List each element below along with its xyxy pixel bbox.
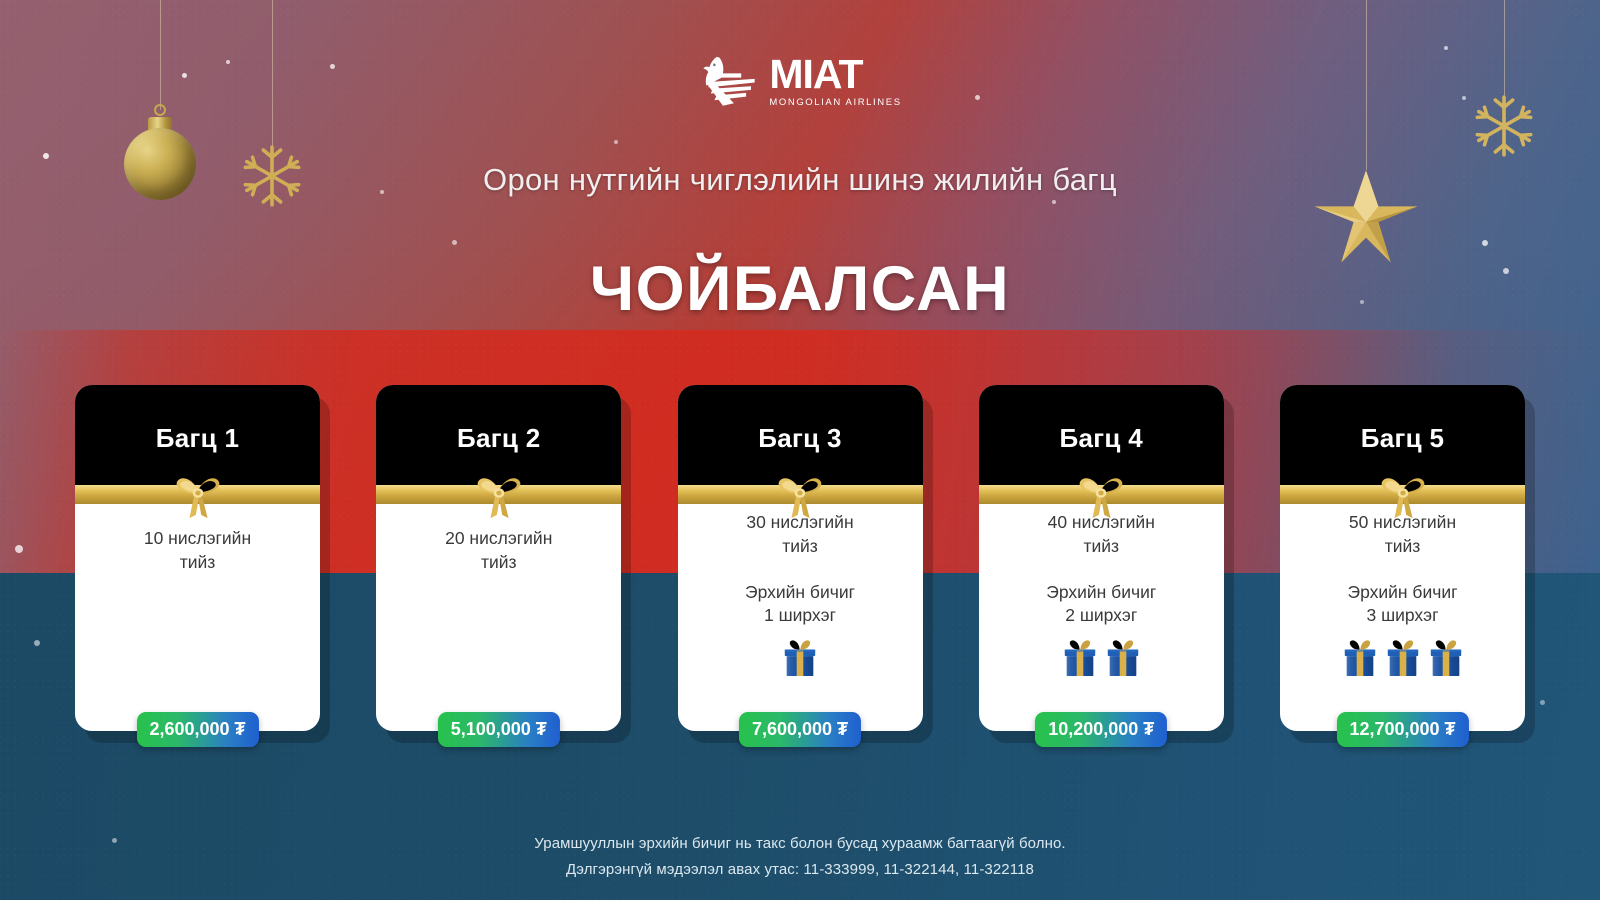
package-voucher: Эрхийн бичиг1 ширхэг [745, 581, 855, 629]
footer-contact: Дэлгэрэнгүй мэдээлэл авах утас: 11-33399… [0, 861, 1600, 878]
package-card[interactable]: Багц 3 30 нислэгийнтийз Эрхийн бичиг1 ши… [678, 385, 923, 731]
package-tickets: 20 нислэгийнтийз [445, 527, 552, 575]
gold-bow [1069, 469, 1133, 530]
package-voucher: Эрхийн бичиг3 ширхэг [1347, 581, 1457, 629]
footer: Урамшууллын эрхийн бичиг нь такс болон б… [0, 835, 1600, 878]
gift-box-icon [1341, 637, 1379, 679]
gold-bow-icon [1069, 469, 1133, 525]
package-price[interactable]: 5,100,000 ₮ [438, 712, 560, 747]
package-card[interactable]: Багц 2 20 нислэгийнтийз 5,100,000 ₮ [376, 385, 621, 731]
package-title: Багц 2 [457, 423, 540, 454]
snow-dot [43, 153, 49, 159]
package-card[interactable]: Багц 4 40 нислэгийнтийз Эрхийн бичиг2 ши… [979, 385, 1224, 731]
gold-bow [166, 469, 230, 530]
gold-bow-icon [1371, 469, 1435, 525]
snow-dot [1482, 240, 1488, 246]
package-price[interactable]: 12,700,000 ₮ [1336, 712, 1468, 747]
miat-logo: MIAT MONGOLIAN AIRLINES [0, 52, 1600, 118]
package-price[interactable]: 10,200,000 ₮ [1035, 712, 1167, 747]
package-card-list: Багц 1 10 нислэгийнтийз 2,600,000 ₮ Багц… [75, 385, 1525, 755]
gold-bow-icon [768, 469, 832, 525]
package-price[interactable]: 7,600,000 ₮ [739, 712, 861, 747]
package-price[interactable]: 2,600,000 ₮ [136, 712, 258, 747]
snow-dot [34, 640, 40, 646]
miat-horse-wing-logo-icon [698, 52, 760, 110]
snow-dot [1540, 700, 1545, 705]
gift-box-icon [1427, 637, 1465, 679]
snow-dot [1052, 200, 1056, 204]
package-title: Багц 1 [156, 423, 239, 454]
gold-bow [467, 469, 531, 530]
snow-dot [15, 545, 23, 553]
package-card[interactable]: Багц 5 50 нислэгийнтийз Эрхийн бичиг3 ши… [1280, 385, 1525, 731]
logo-tagline: MONGOLIAN AIRLINES [769, 97, 901, 108]
gold-bow [768, 469, 832, 530]
promo-subtitle: Орон нутгийн чиглэлийн шинэ жилийн багц [0, 162, 1600, 198]
destination-title: ЧОЙБАЛСАН [0, 253, 1600, 325]
gift-box-group [1341, 637, 1465, 679]
snow-dot [1444, 46, 1448, 50]
footer-note: Урамшууллын эрхийн бичиг нь такс болон б… [0, 835, 1600, 852]
gift-box-icon [1384, 637, 1422, 679]
gold-bow [1371, 469, 1435, 530]
logo-wordmark: MIAT [769, 54, 862, 94]
package-title: Багц 5 [1361, 423, 1444, 454]
gift-box-group [1061, 637, 1142, 679]
gift-box-icon [1104, 637, 1142, 679]
gift-box-icon [1061, 637, 1099, 679]
package-title: Багц 4 [1060, 423, 1143, 454]
gift-box-icon [781, 637, 819, 679]
gift-box-group [781, 637, 819, 679]
snow-dot [614, 140, 618, 144]
package-card[interactable]: Багц 1 10 нислэгийнтийз 2,600,000 ₮ [75, 385, 320, 731]
package-title: Багц 3 [758, 423, 841, 454]
package-tickets: 10 нислэгийнтийз [144, 527, 251, 575]
snow-dot [452, 240, 457, 245]
package-voucher: Эрхийн бичиг2 ширхэг [1046, 581, 1156, 629]
gold-bow-icon [166, 469, 230, 525]
gold-bow-icon [467, 469, 531, 525]
